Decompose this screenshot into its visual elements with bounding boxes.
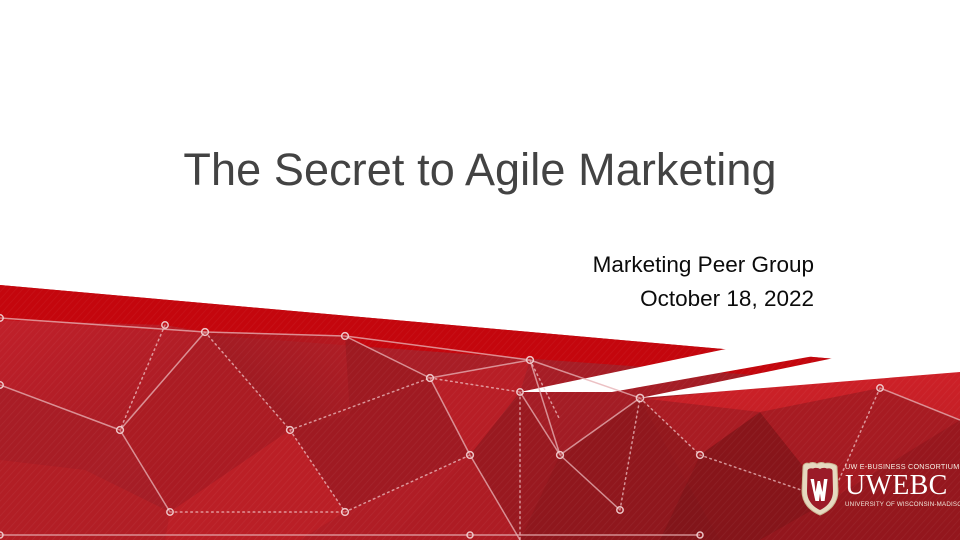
logo-wordmark: UWEBC	[845, 471, 957, 501]
uw-crest-icon	[797, 461, 843, 517]
subtitle-block: Marketing Peer Group October 18, 2022	[593, 248, 814, 316]
logo-bottom-line: UNIVERSITY OF WISCONSIN-MADISON	[845, 501, 957, 509]
uwebc-logo-text: UW E-BUSINESS CONSORTIUM UWEBC UNIVERSIT…	[845, 462, 957, 509]
title-block: The Secret to Agile Marketing	[60, 145, 900, 195]
subtitle-line-date: October 18, 2022	[593, 282, 814, 316]
uwebc-logo: UW E-BUSINESS CONSORTIUM UWEBC UNIVERSIT…	[797, 461, 957, 519]
subtitle-line-group: Marketing Peer Group	[593, 248, 814, 282]
page-title: The Secret to Agile Marketing	[60, 145, 900, 195]
decorative-low-poly-background	[0, 0, 960, 540]
presentation-slide: The Secret to Agile Marketing Marketing …	[0, 0, 960, 540]
